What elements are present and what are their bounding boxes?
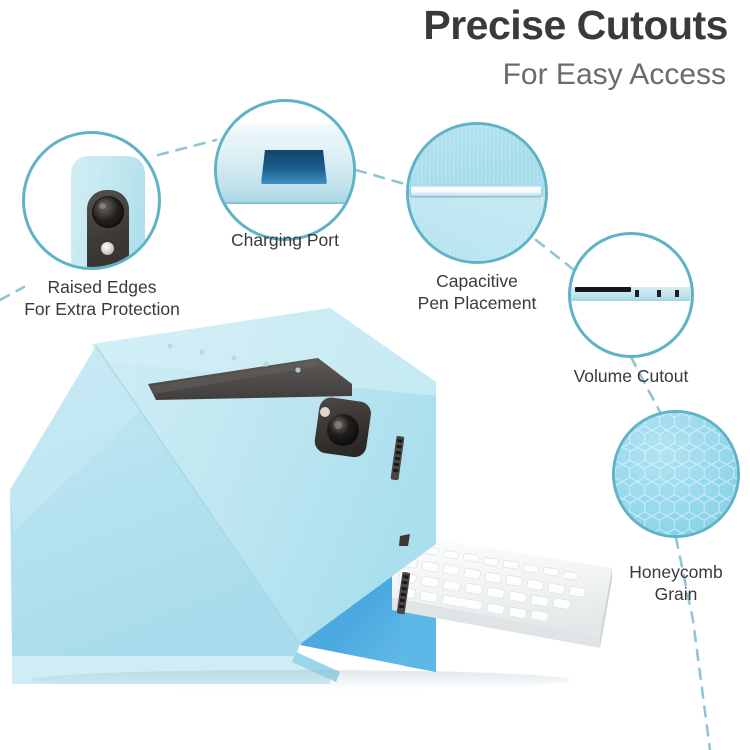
page-title: Precise Cutouts xyxy=(423,2,728,49)
callout-label-volume-cutout: Volume Cutout xyxy=(543,366,719,388)
camera-flash-icon xyxy=(101,242,114,255)
callout-label-capacitive-pen: Capacitive Pen Placement xyxy=(389,271,565,314)
dashed-connector-line xyxy=(356,170,408,185)
case-edge-line-art xyxy=(214,202,356,204)
camera-lens-icon xyxy=(92,196,124,228)
callout-label-raised-edges: Raised Edges For Extra Protection xyxy=(14,277,190,320)
case-shading-art xyxy=(409,197,545,264)
volume-button-bar-icon xyxy=(575,287,631,292)
charging-port-hole-icon xyxy=(261,150,327,184)
honeycomb-pattern-icon xyxy=(615,413,737,535)
volume-notch-icon xyxy=(675,290,679,297)
callout-circle-raised-edges xyxy=(22,131,161,270)
callout-circle-capacitive-pen xyxy=(406,122,548,264)
volume-notch-icon xyxy=(657,290,661,297)
dashed-connector-line xyxy=(158,140,216,155)
callout-circle-charging-port xyxy=(214,99,356,241)
callout-label-charging-port: Charging Port xyxy=(197,230,373,252)
callout-circle-volume-cutout xyxy=(568,232,694,358)
pen-slot-icon xyxy=(411,185,541,196)
case-edge-top-art xyxy=(214,124,356,144)
contact-shadow xyxy=(30,670,570,690)
page-subtitle: For Easy Access xyxy=(503,58,726,92)
volume-notch-icon xyxy=(635,290,639,297)
callout-circle-honeycomb-grain xyxy=(612,410,740,538)
callout-label-honeycomb-grain: Honeycomb Grain xyxy=(588,562,750,605)
camera-cutout xyxy=(313,396,372,459)
infographic-canvas: Precise Cutouts For Easy Access Raised E… xyxy=(0,0,750,750)
